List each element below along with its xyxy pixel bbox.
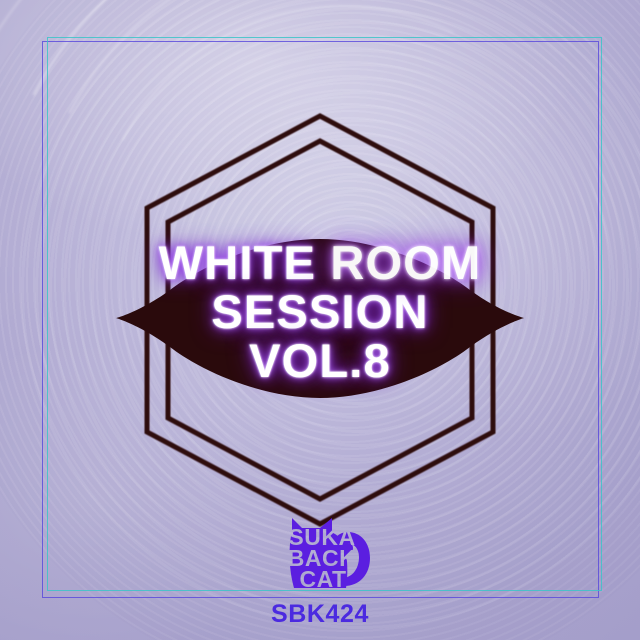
title-line-2: SESSION (0, 289, 640, 335)
title-line-1: WHITE ROOM (0, 240, 640, 286)
album-title: WHITE ROOM SESSION VOL.8 (0, 240, 640, 384)
title-line-3: VOL.8 (0, 338, 640, 384)
record-label-logo[interactable]: SUKA BACK CAT (282, 508, 378, 594)
title-word-white: WHITE (159, 236, 331, 289)
title-word-room: ROOM (330, 236, 481, 289)
album-cover: WHITE ROOM SESSION VOL.8 (0, 0, 640, 640)
cat-silhouette (282, 508, 378, 594)
catalog-number: SBK424 (0, 600, 640, 629)
